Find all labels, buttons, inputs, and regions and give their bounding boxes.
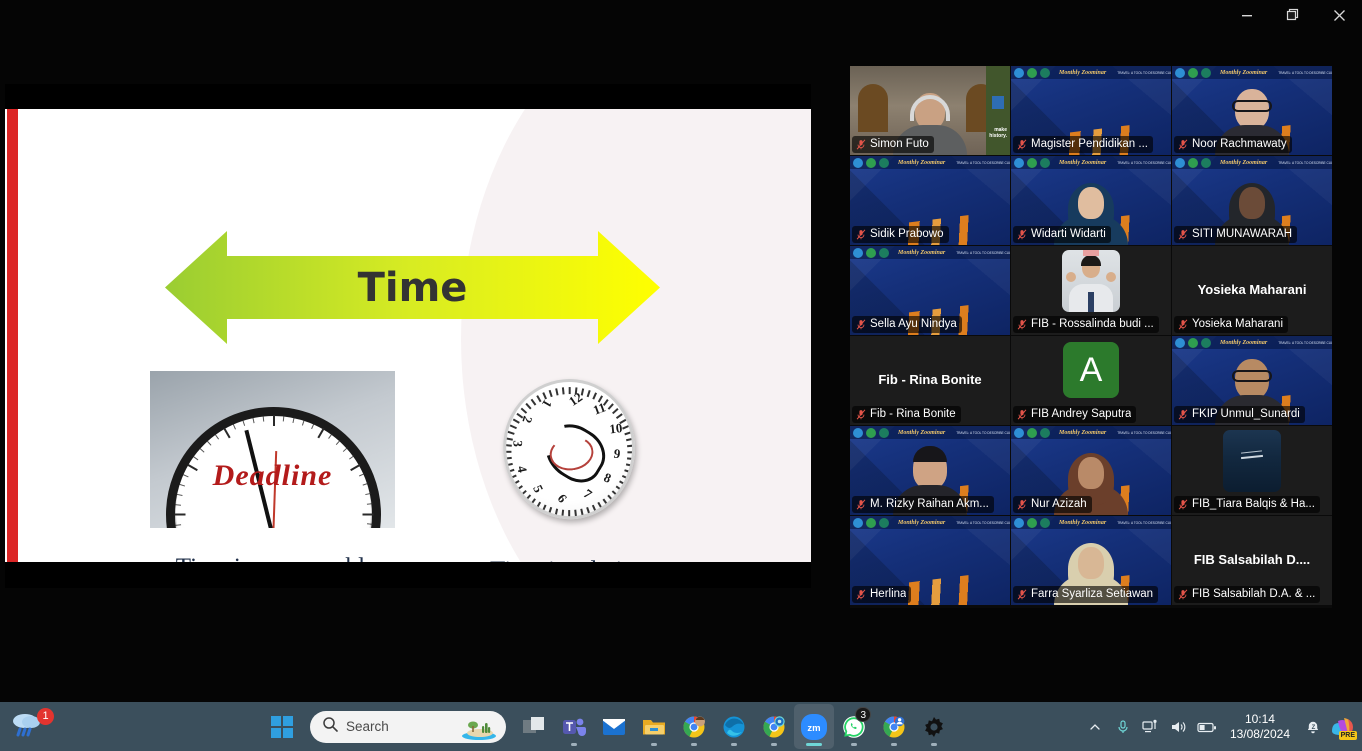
melting-clock-number: 8: [602, 470, 614, 487]
mute-icon: [856, 229, 866, 240]
participant-name-bar: Widarti Widarti: [1013, 226, 1111, 243]
vbg-brand-text: Monthly Zoominar: [1220, 340, 1267, 346]
show-hidden-icons-button[interactable]: [1082, 712, 1108, 742]
participant-name-bar: Yosieka Maharani: [1174, 316, 1288, 333]
weather-widget[interactable]: 1: [10, 710, 56, 744]
melting-clock-number: 7: [580, 486, 595, 503]
deadline-text: Deadline: [150, 459, 395, 493]
restore-button[interactable]: [1270, 0, 1316, 30]
institution-logo-3-icon: [1201, 158, 1211, 168]
participant-name: Widarti Widarti: [1031, 227, 1106, 241]
melting-clock-number: 3: [509, 440, 525, 447]
institution-logo-1-icon: [1175, 158, 1185, 168]
vbg-tagline-text: TRAVEL: A TOOL TO DESCRIBE CULTURE DIFFE…: [1117, 161, 1171, 165]
search-icon: [322, 716, 338, 737]
participant-name: Sidik Prabowo: [870, 227, 944, 241]
mute-icon: [1017, 589, 1027, 600]
glasses-icon: [1232, 370, 1272, 382]
participant-name-bar: Farra Syarliza Setiawan: [1013, 586, 1158, 603]
institution-logo-2-icon: [1027, 158, 1037, 168]
vbg-tagline-text: TRAVEL: A TOOL TO DESCRIBE CULTURE DIFFE…: [1117, 431, 1171, 435]
virtual-background-header: Monthly ZoominarTRAVEL: A TOOL TO DESCRI…: [850, 516, 1010, 529]
mute-icon: [856, 139, 866, 150]
taskbar-center-group: Search: [262, 702, 954, 751]
notification-bell-icon[interactable]: Z: [1300, 712, 1326, 742]
vbg-brand-text: Monthly Zoominar: [1059, 520, 1106, 526]
vbg-tagline-text: TRAVEL: A TOOL TO DESCRIBE CULTURE DIFFE…: [956, 521, 1010, 525]
chrome-third-button[interactable]: [874, 704, 914, 749]
participant-gallery: makehistory.Simon FutoMonthly ZoominarTR…: [850, 66, 1332, 608]
participant-name: SITI MUNAWARAH: [1192, 227, 1292, 241]
participant-tile[interactable]: Monthly ZoominarTRAVEL: A TOOL TO DESCRI…: [1172, 156, 1332, 245]
participant-tile[interactable]: Monthly ZoominarTRAVEL: A TOOL TO DESCRI…: [1011, 156, 1171, 245]
virtual-background-header: Monthly ZoominarTRAVEL: A TOOL TO DESCRI…: [1172, 336, 1332, 349]
participant-name-bar: Magister Pendidikan ...: [1013, 136, 1153, 153]
participant-tile[interactable]: Monthly ZoominarTRAVEL: A TOOL TO DESCRI…: [850, 156, 1010, 245]
participant-name: FIB Andrey Saputra: [1031, 407, 1131, 421]
participant-photo: [1223, 430, 1281, 492]
institution-logo-3-icon: [879, 248, 889, 258]
participant-photo: [1062, 250, 1120, 312]
participant-name-bar: Fib - Rina Bonite: [852, 406, 961, 423]
time-arrow-label: Time: [165, 229, 660, 346]
svg-text:Z: Z: [1312, 725, 1316, 731]
zoom-button[interactable]: zm: [794, 704, 834, 749]
clock-time: 10:14: [1230, 712, 1290, 727]
clock-date: 13/08/2024: [1230, 727, 1290, 742]
participant-name-bar: Noor Rachmawaty: [1174, 136, 1292, 153]
participant-tile[interactable]: FIB_Tiara Balqis & Ha...: [1172, 426, 1332, 515]
participant-name: Yosieka Maharani: [1192, 317, 1283, 331]
participant-tile[interactable]: AFIB Andrey Saputra: [1011, 336, 1171, 425]
mute-icon: [856, 499, 866, 510]
close-button[interactable]: [1316, 0, 1362, 30]
mute-icon: [1017, 229, 1027, 240]
vbg-brand-text: Monthly Zoominar: [898, 430, 945, 436]
participant-name: Noor Rachmawaty: [1192, 137, 1287, 151]
participant-name-bar: SITI MUNAWARAH: [1174, 226, 1297, 243]
melting-clock-number: 9: [613, 446, 622, 463]
institution-logo-3-icon: [1040, 428, 1050, 438]
start-button[interactable]: [262, 704, 302, 749]
institution-logo-2-icon: [1027, 518, 1037, 528]
participant-tile[interactable]: Monthly ZoominarTRAVEL: A TOOL TO DESCRI…: [1011, 66, 1171, 155]
vbg-brand-text: Monthly Zoominar: [1059, 160, 1106, 166]
institution-logo-2-icon: [866, 518, 876, 528]
institution-logo-2-icon: [866, 428, 876, 438]
participant-name: FIB_Tiara Balqis & Ha...: [1192, 497, 1315, 511]
institution-logo-1-icon: [1014, 158, 1024, 168]
mute-icon: [856, 589, 866, 600]
participant-tile[interactable]: FIB - Rossalinda budi ...: [1011, 246, 1171, 335]
mute-icon: [1017, 499, 1027, 510]
taskbar-clock[interactable]: 10:14 13/08/2024: [1222, 712, 1298, 742]
participant-name: FKIP Unmul_Sunardi: [1192, 407, 1300, 421]
virtual-background-header: Monthly ZoominarTRAVEL: A TOOL TO DESCRI…: [1011, 426, 1171, 439]
participant-name: Farra Syarliza Setiawan: [1031, 587, 1153, 601]
institution-logo-3-icon: [1201, 68, 1211, 78]
participant-name-bar: FIB Salsabilah D.A. & ...: [1174, 586, 1320, 603]
institution-logo-2-icon: [1188, 158, 1198, 168]
mute-icon: [1017, 409, 1027, 420]
institution-logo-2-icon: [866, 158, 876, 168]
participant-name-bar: FIB Andrey Saputra: [1013, 406, 1136, 423]
vbg-brand-text: Monthly Zoominar: [898, 250, 945, 256]
institution-logo-2-icon: [1188, 338, 1198, 348]
vbg-brand-text: Monthly Zoominar: [1220, 70, 1267, 76]
participant-name: Simon Futo: [870, 137, 929, 151]
participant-tile[interactable]: Monthly ZoominarTRAVEL: A TOOL TO DESCRI…: [1011, 516, 1171, 605]
participant-name-bar: Simon Futo: [852, 136, 934, 153]
participant-name-bar: Sidik Prabowo: [852, 226, 949, 243]
mute-icon: [1017, 139, 1027, 150]
institution-logo-1-icon: [1175, 68, 1185, 78]
mail-button[interactable]: [594, 704, 634, 749]
chrome-profile-button[interactable]: [674, 704, 714, 749]
mute-icon: [1178, 229, 1188, 240]
participant-name: FIB - Rossalinda budi ...: [1031, 317, 1154, 331]
participant-name-bar: FKIP Unmul_Sunardi: [1174, 406, 1305, 423]
weather-badge: 1: [37, 708, 54, 725]
participant-name: FIB Salsabilah D.A. & ...: [1192, 587, 1315, 601]
institution-logo-2-icon: [1188, 68, 1198, 78]
mute-icon: [1178, 139, 1188, 150]
institution-logo-3-icon: [1040, 158, 1050, 168]
institution-logo-1-icon: [853, 158, 863, 168]
presentation-slide: Time Deadline 121110987654321: [5, 109, 811, 562]
participant-name-bar: Herlina: [852, 586, 911, 603]
vbg-brand-text: Monthly Zoominar: [898, 520, 945, 526]
institution-logo-3-icon: [1040, 68, 1050, 78]
participant-tile[interactable]: Monthly ZoominarTRAVEL: A TOOL TO DESCRI…: [1172, 336, 1332, 425]
melting-clock-number: 5: [529, 483, 546, 496]
virtual-background-header: Monthly ZoominarTRAVEL: A TOOL TO DESCRI…: [1172, 156, 1332, 169]
institution-logo-3-icon: [879, 158, 889, 168]
participant-tile[interactable]: Fib - Rina BoniteFib - Rina Bonite: [850, 336, 1010, 425]
vbg-brand-text: Monthly Zoominar: [1059, 430, 1106, 436]
participant-tile[interactable]: Yosieka MaharaniYosieka Maharani: [1172, 246, 1332, 335]
settings-button[interactable]: [914, 704, 954, 749]
caption-time-manageable: Time is manageable: [145, 552, 407, 562]
vbg-tagline-text: TRAVEL: A TOOL TO DESCRIBE CULTURE DIFFE…: [1278, 71, 1332, 75]
vbg-tagline-text: TRAVEL: A TOOL TO DESCRIBE CULTURE DIFFE…: [1117, 71, 1171, 75]
participant-name-bar: FIB - Rossalinda budi ...: [1013, 316, 1159, 333]
whatsapp-badge: 3: [855, 707, 871, 722]
participant-tile[interactable]: Monthly ZoominarTRAVEL: A TOOL TO DESCRI…: [850, 426, 1010, 515]
participant-tile[interactable]: FIB Salsabilah D....FIB Salsabilah D.A. …: [1172, 516, 1332, 605]
virtual-background-header: Monthly ZoominarTRAVEL: A TOOL TO DESCRI…: [1011, 516, 1171, 529]
volume-icon[interactable]: [1166, 712, 1192, 742]
participant-display-name: Yosieka Maharani: [1178, 282, 1326, 297]
time-arrow-graphic: Time: [165, 229, 660, 346]
search-box[interactable]: Search: [310, 711, 506, 743]
mute-icon: [1178, 319, 1188, 330]
copilot-pre-badge: PRE: [1339, 731, 1357, 740]
vbg-tagline-text: TRAVEL: A TOOL TO DESCRIBE CULTURE DIFFE…: [1278, 161, 1332, 165]
participant-name: Magister Pendidikan ...: [1031, 137, 1148, 151]
mute-icon: [856, 409, 866, 420]
task-view-button[interactable]: [514, 704, 554, 749]
vbg-tagline-text: TRAVEL: A TOOL TO DESCRIBE CULTURE DIFFE…: [1278, 341, 1332, 345]
file-explorer-button[interactable]: [634, 704, 674, 749]
vbg-tagline-text: TRAVEL: A TOOL TO DESCRIBE CULTURE DIFFE…: [956, 161, 1010, 165]
participant-name-bar: FIB_Tiara Balqis & Ha...: [1174, 496, 1320, 513]
system-tray: 10:14 13/08/2024 Z PRE: [1082, 702, 1358, 751]
microphone-icon[interactable]: [1110, 712, 1136, 742]
melting-clock-number: 6: [554, 491, 570, 506]
institution-logo-3-icon: [879, 428, 889, 438]
mute-icon: [1178, 589, 1188, 600]
vbg-brand-text: Monthly Zoominar: [1220, 160, 1267, 166]
institution-logo-2-icon: [1027, 428, 1037, 438]
vbg-tagline-text: TRAVEL: A TOOL TO DESCRIBE CULTURE DIFFE…: [956, 431, 1010, 435]
copilot-icon[interactable]: PRE: [1328, 712, 1358, 742]
network-icon[interactable]: [1138, 712, 1164, 742]
vbg-brand-text: Monthly Zoominar: [1059, 70, 1106, 76]
institution-logo-3-icon: [1040, 518, 1050, 528]
participant-name-bar: Sella Ayu Nindya: [852, 316, 962, 333]
participant-display-name: FIB Salsabilah D....: [1178, 552, 1326, 567]
institution-logo-1-icon: [853, 428, 863, 438]
vbg-brand-text: Monthly Zoominar: [898, 160, 945, 166]
chrome-second-button[interactable]: [754, 704, 794, 749]
search-illustration-icon: [460, 716, 498, 740]
institution-logo-1-icon: [1014, 518, 1024, 528]
participant-name: Fib - Rina Bonite: [870, 407, 956, 421]
participant-tile[interactable]: Monthly ZoominarTRAVEL: A TOOL TO DESCRI…: [1011, 426, 1171, 515]
mute-icon: [1178, 409, 1188, 420]
participant-name: Sella Ayu Nindya: [870, 317, 957, 331]
participant-name-bar: M. Rizky Raihan Akm...: [852, 496, 994, 513]
teams-button[interactable]: [554, 704, 594, 749]
virtual-background-header: Monthly ZoominarTRAVEL: A TOOL TO DESCRI…: [1011, 66, 1171, 79]
institution-logo-1-icon: [1014, 68, 1024, 78]
participant-tile[interactable]: makehistory.Simon Futo: [850, 66, 1010, 155]
virtual-background-header: Monthly ZoominarTRAVEL: A TOOL TO DESCRI…: [850, 426, 1010, 439]
institution-logo-1-icon: [1175, 338, 1185, 348]
mute-icon: [1178, 499, 1188, 510]
mute-icon: [856, 319, 866, 330]
participant-avatar: A: [1063, 342, 1119, 398]
participant-display-name: Fib - Rina Bonite: [856, 372, 1004, 387]
melting-clock-number: 1: [538, 396, 555, 410]
vbg-tagline-text: TRAVEL: A TOOL TO DESCRIBE CULTURE DIFFE…: [1117, 521, 1171, 525]
participant-name: Herlina: [870, 587, 906, 601]
virtual-background-header: Monthly ZoominarTRAVEL: A TOOL TO DESCRI…: [1172, 66, 1332, 79]
shared-screen-area: Time Deadline 121110987654321: [5, 84, 811, 588]
deadline-clock-image: Deadline: [150, 371, 395, 528]
institution-logo-3-icon: [879, 518, 889, 528]
participant-tile[interactable]: Monthly ZoominarTRAVEL: A TOOL TO DESCRI…: [850, 516, 1010, 605]
minimize-button[interactable]: [1224, 0, 1270, 30]
participant-name-bar: Nur Azizah: [1013, 496, 1092, 513]
virtual-background-header: Monthly ZoominarTRAVEL: A TOOL TO DESCRI…: [850, 246, 1010, 259]
melting-clock-image: 121110987654321: [497, 379, 641, 519]
institution-logo-1-icon: [1014, 428, 1024, 438]
virtual-background-header: Monthly ZoominarTRAVEL: A TOOL TO DESCRI…: [850, 156, 1010, 169]
edge-button[interactable]: [714, 704, 754, 749]
window-controls: [1224, 0, 1362, 30]
melting-clock-number: 4: [513, 464, 530, 474]
whatsapp-button[interactable]: 3: [834, 704, 874, 749]
glasses-icon: [1232, 100, 1272, 112]
campus-brand-text: makehistory.: [989, 128, 1007, 139]
vbg-tagline-text: TRAVEL: A TOOL TO DESCRIBE CULTURE DIFFE…: [956, 251, 1010, 255]
participant-tile[interactable]: Monthly ZoominarTRAVEL: A TOOL TO DESCRI…: [850, 246, 1010, 335]
institution-logo-1-icon: [853, 518, 863, 528]
desktop-root: Time Deadline 121110987654321: [0, 0, 1362, 751]
institution-logo-3-icon: [1201, 338, 1211, 348]
institution-logo-1-icon: [853, 248, 863, 258]
participant-name: Nur Azizah: [1031, 497, 1087, 511]
institution-logo-2-icon: [866, 248, 876, 258]
mute-icon: [1017, 319, 1027, 330]
svg-text:zm: zm: [807, 723, 820, 734]
campus-logo-icon: [992, 96, 1004, 109]
windows-taskbar: 1 Search: [0, 702, 1362, 751]
participant-tile[interactable]: Monthly ZoominarTRAVEL: A TOOL TO DESCRI…: [1172, 66, 1332, 155]
participant-name: M. Rizky Raihan Akm...: [870, 497, 989, 511]
virtual-background-header: Monthly ZoominarTRAVEL: A TOOL TO DESCRI…: [1011, 156, 1171, 169]
institution-logo-2-icon: [1027, 68, 1037, 78]
battery-icon[interactable]: [1194, 712, 1220, 742]
caption-time-relative: Time is relative: [452, 555, 684, 562]
search-placeholder: Search: [346, 719, 389, 734]
